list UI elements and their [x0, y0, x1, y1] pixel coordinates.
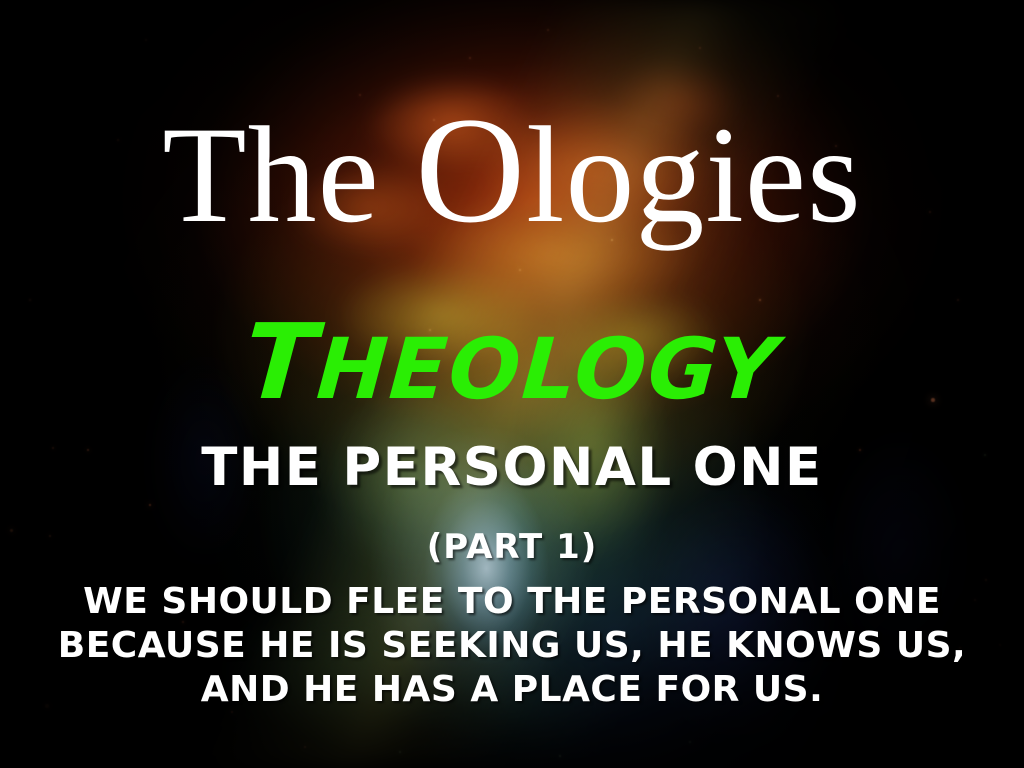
presentation-slide: The Ologies Theology THE PERSONAL ONE (P…: [0, 0, 1024, 768]
title-big-letter: O: [415, 86, 526, 254]
star-point: [559, 755, 561, 757]
summary-line: WE SHOULD FLEE TO THE PERSONAL ONE: [0, 580, 1024, 624]
star-point: [304, 746, 307, 749]
star-point: [699, 47, 701, 49]
slide-subtitle: THE PERSONAL ONE: [0, 437, 1024, 498]
star-point: [547, 29, 549, 31]
star-point: [519, 269, 521, 271]
star-point: [29, 299, 31, 301]
title-suffix: logies: [526, 98, 862, 251]
series-topic-cap: T: [241, 301, 322, 423]
summary-line: AND HE HAS A PLACE FOR US.: [0, 668, 1024, 712]
summary-text: WE SHOULD FLEE TO THE PERSONAL ONE BECAU…: [0, 580, 1024, 712]
part-label: (PART 1): [0, 527, 1024, 567]
series-topic-heading: Theology: [0, 308, 1024, 417]
star-point: [469, 57, 471, 59]
star-point: [149, 504, 151, 506]
star-point: [957, 299, 959, 301]
title-prefix: The: [162, 98, 415, 251]
slide-title: The Ologies: [0, 94, 1024, 246]
star-point: [399, 751, 401, 753]
star-point: [145, 39, 147, 41]
star-point: [689, 741, 691, 743]
summary-line: BECAUSE HE IS SEEKING US, HE KNOWS US,: [0, 624, 1024, 668]
series-topic-rest: heology: [314, 320, 782, 418]
star-point: [759, 299, 761, 301]
